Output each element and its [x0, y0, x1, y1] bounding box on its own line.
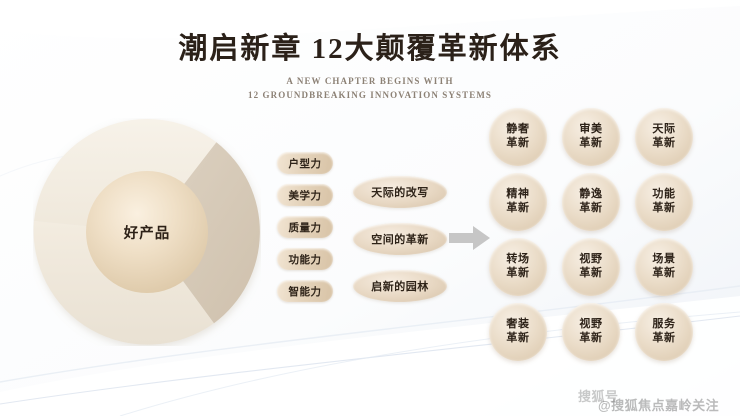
innovation-circle-4-line2: 革新	[579, 202, 602, 216]
innovation-circle-11-line2: 革新	[652, 332, 675, 346]
innovation-circle-0-line2: 革新	[506, 137, 529, 151]
innovation-circle-2[interactable]: 天际 革新	[635, 108, 693, 166]
innovation-circle-6-line2: 革新	[506, 267, 529, 281]
innovation-circle-9-line2: 革新	[506, 332, 529, 346]
theme-ellipse-list: 天际的改写 空间的革新 启新的园林	[353, 176, 447, 302]
donut-chart-svg	[33, 118, 261, 346]
innovation-circle-6-line1: 转场	[506, 253, 529, 267]
innovation-circle-5-line2: 革新	[652, 202, 675, 216]
innovation-circle-8[interactable]: 场景 革新	[635, 238, 693, 296]
innovation-circle-7-line2: 革新	[579, 267, 602, 281]
capability-pill-2[interactable]: 质量力	[277, 216, 333, 238]
subtitle-line-1: A NEW CHAPTER BEGINS WITH	[0, 75, 740, 89]
innovation-circle-2-line1: 天际	[652, 123, 675, 137]
innovation-circle-10[interactable]: 视野 革新	[562, 303, 620, 361]
innovation-circle-9-line1: 奢装	[506, 318, 529, 332]
donut-chart: 好产品	[33, 118, 261, 346]
innovation-circle-7[interactable]: 视野 革新	[562, 238, 620, 296]
slide-canvas: 潮启新章 12大颠覆革新体系 A NEW CHAPTER BEGINS WITH…	[0, 0, 740, 416]
innovation-circle-9[interactable]: 奢装 革新	[489, 303, 547, 361]
innovation-circle-6[interactable]: 转场 革新	[489, 238, 547, 296]
innovation-circle-11-line1: 服务	[652, 318, 675, 332]
theme-ellipse-1[interactable]: 空间的革新	[353, 223, 447, 255]
innovation-circle-8-line1: 场景	[652, 253, 675, 267]
watermark-secondary: @搜狐焦点嘉岭关注	[598, 395, 719, 414]
capability-pill-0[interactable]: 户型力	[277, 152, 333, 174]
innovation-circle-11[interactable]: 服务 革新	[635, 303, 693, 361]
innovation-circle-4[interactable]: 静逸 革新	[562, 173, 620, 231]
innovation-circle-5-line1: 功能	[652, 188, 675, 202]
capability-pill-list: 户型力 美学力 质量力 功能力 智能力	[277, 152, 333, 302]
innovation-circle-2-line2: 革新	[652, 137, 675, 151]
innovation-circle-7-line1: 视野	[579, 253, 602, 267]
capability-pill-4[interactable]: 智能力	[277, 280, 333, 302]
capability-pill-1[interactable]: 美学力	[277, 184, 333, 206]
innovation-circle-8-line2: 革新	[652, 267, 675, 281]
innovation-circle-1-line2: 革新	[579, 137, 602, 151]
innovation-circle-3-line2: 革新	[506, 202, 529, 216]
capability-pill-3[interactable]: 功能力	[277, 248, 333, 270]
innovation-circle-10-line1: 视野	[579, 318, 602, 332]
innovation-circle-grid: 静奢 革新 审美 革新 天际 革新 精神 革新 静逸 革新 功能 革新 转场 革…	[489, 108, 697, 361]
subtitle-line-2: 12 GROUNDBREAKING INNOVATION SYSTEMS	[0, 89, 740, 103]
innovation-circle-3[interactable]: 精神 革新	[489, 173, 547, 231]
innovation-circle-3-line1: 精神	[506, 188, 529, 202]
innovation-circle-0-line1: 静奢	[506, 123, 529, 137]
arrow-right-icon	[449, 225, 491, 251]
title-block: 潮启新章 12大颠覆革新体系 A NEW CHAPTER BEGINS WITH…	[0, 34, 740, 103]
page-title: 潮启新章 12大颠覆革新体系	[0, 34, 740, 66]
innovation-circle-4-line1: 静逸	[579, 188, 602, 202]
innovation-circle-10-line2: 革新	[579, 332, 602, 346]
theme-ellipse-0[interactable]: 天际的改写	[353, 176, 447, 208]
innovation-circle-0[interactable]: 静奢 革新	[489, 108, 547, 166]
innovation-circle-5[interactable]: 功能 革新	[635, 173, 693, 231]
innovation-circle-1-line1: 审美	[579, 123, 602, 137]
innovation-circle-1[interactable]: 审美 革新	[562, 108, 620, 166]
theme-ellipse-2[interactable]: 启新的园林	[353, 270, 447, 302]
